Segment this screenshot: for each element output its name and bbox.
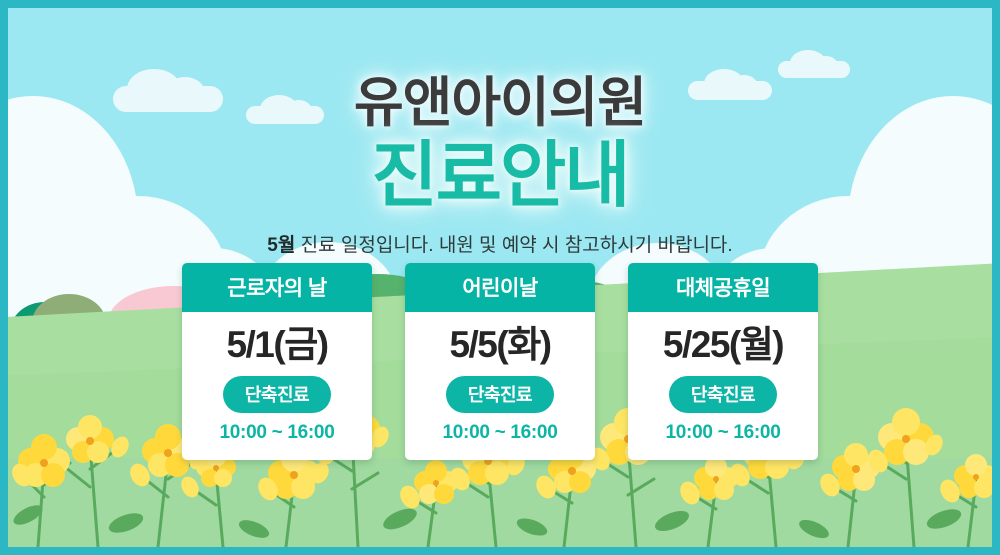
subtitle-month: 5월 (267, 235, 295, 256)
opening-hours: 10:00 ~ 16:00 (182, 422, 372, 444)
schedule-card[interactable]: 대체공휴일 5/25(월) 단축진료 10:00 ~ 16:00 (628, 263, 818, 460)
holiday-name-header: 대체공휴일 (628, 263, 818, 312)
subtitle: 5월 진료 일정입니다. 내원 및 예약 시 참고하시기 바랍니다. (8, 230, 992, 257)
schedule-card[interactable]: 어린이날 5/5(화) 단축진료 10:00 ~ 16:00 (405, 263, 595, 460)
schedule-card-body: 5/25(월) 단축진료 10:00 ~ 16:00 (628, 312, 818, 460)
schedule-card[interactable]: 근로자의 날 5/1(금) 단축진료 10:00 ~ 16:00 (182, 263, 372, 460)
status-badge: 단축진료 (446, 376, 554, 413)
page-title: 진료안내 (8, 116, 992, 221)
holiday-name-header: 근로자의 날 (182, 263, 372, 312)
poster-canvas: 유앤아이의원 진료안내 5월 진료 일정입니다. 내원 및 예약 시 참고하시기… (8, 8, 992, 547)
schedule-card-list: 근로자의 날 5/1(금) 단축진료 10:00 ~ 16:00 어린이날 5/… (8, 263, 992, 460)
schedule-card-body: 5/5(화) 단축진료 10:00 ~ 16:00 (405, 312, 595, 460)
holiday-date: 5/25(월) (628, 326, 818, 365)
poster-frame: 유앤아이의원 진료안내 5월 진료 일정입니다. 내원 및 예약 시 참고하시기… (0, 0, 1000, 555)
status-badge: 단축진료 (223, 376, 331, 413)
holiday-date: 5/1(금) (182, 326, 372, 365)
holiday-date: 5/5(화) (405, 326, 595, 365)
opening-hours: 10:00 ~ 16:00 (628, 422, 818, 444)
status-badge: 단축진료 (669, 376, 777, 413)
subtitle-text: 진료 일정입니다. 내원 및 예약 시 참고하시기 바랍니다. (295, 235, 732, 256)
schedule-card-body: 5/1(금) 단축진료 10:00 ~ 16:00 (182, 312, 372, 460)
holiday-name-header: 어린이날 (405, 263, 595, 312)
opening-hours: 10:00 ~ 16:00 (405, 422, 595, 444)
